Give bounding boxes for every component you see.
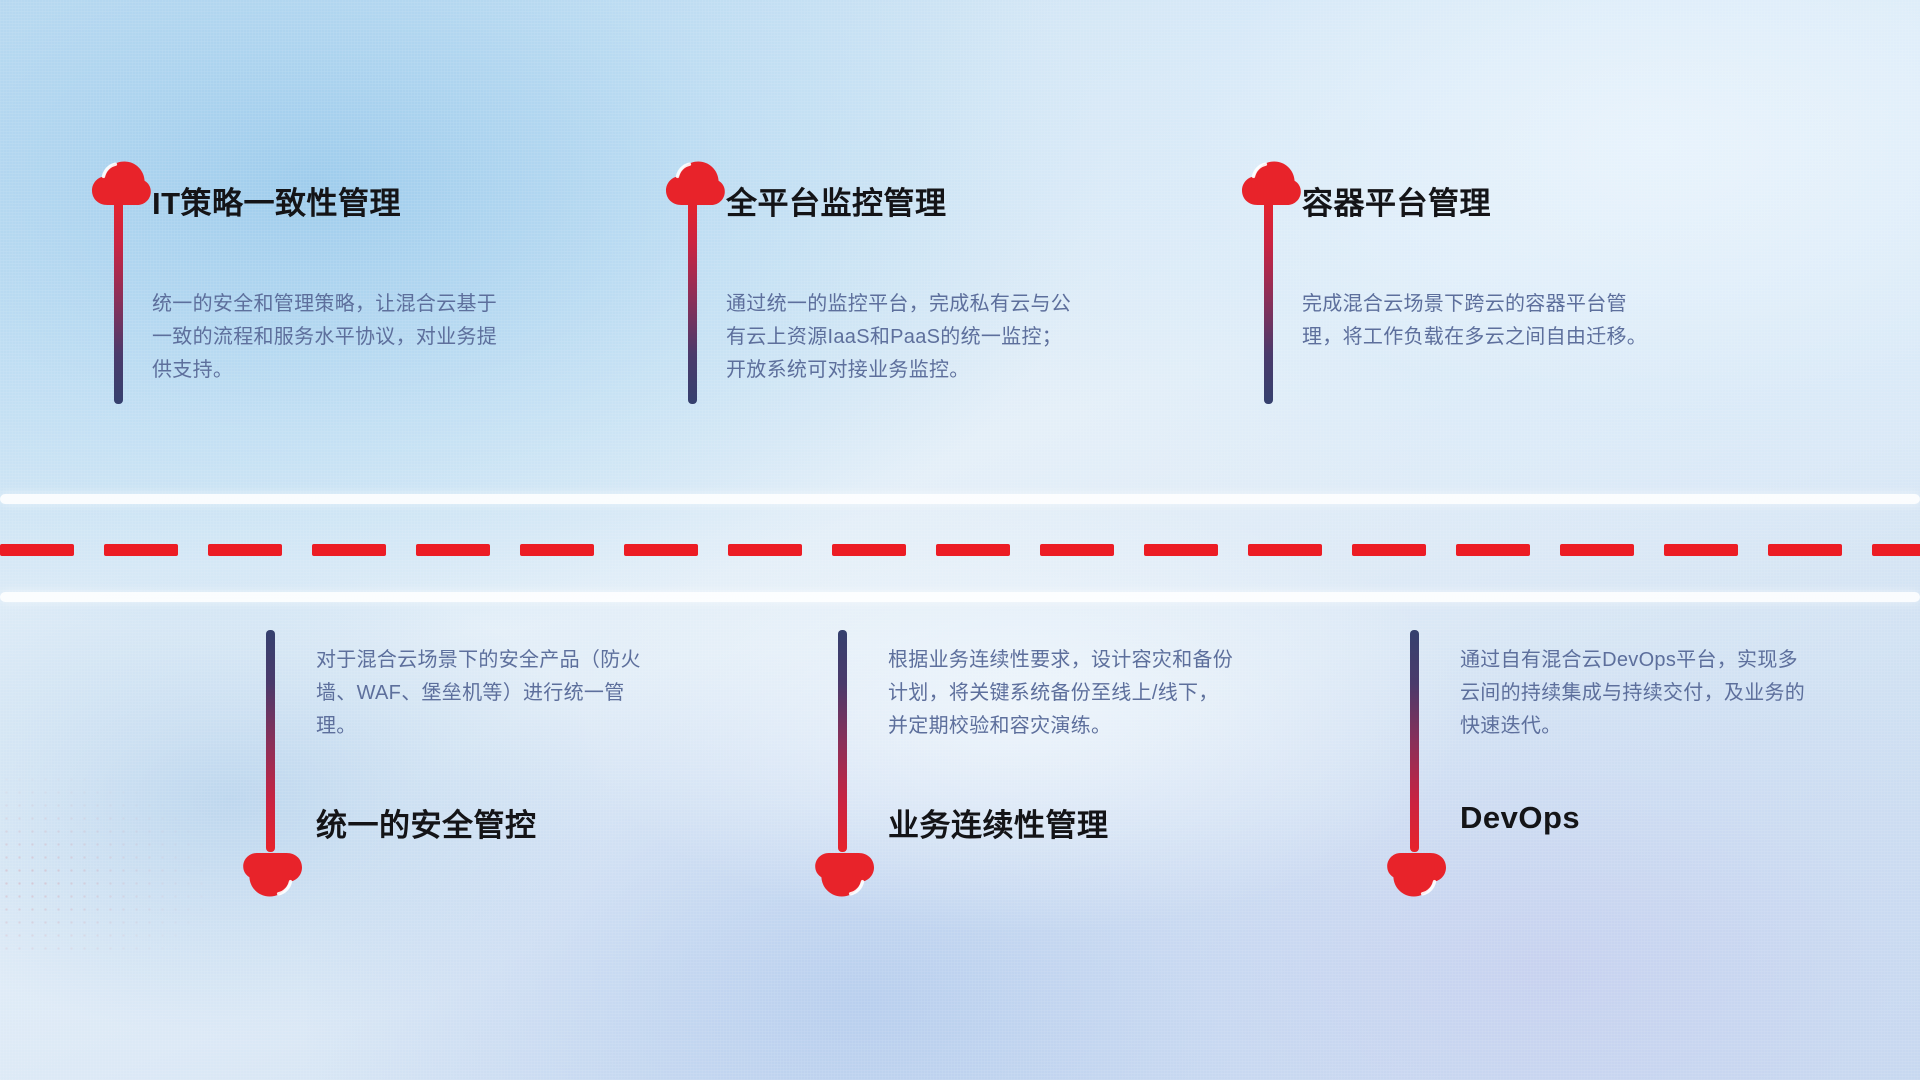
capability-title: 全平台监控管理: [726, 178, 947, 223]
road-dash: [728, 544, 802, 556]
road-edge-bottom: [0, 592, 1920, 602]
road-dash: [1040, 544, 1114, 556]
road-dash: [208, 544, 282, 556]
capability-description: 根据业务连续性要求，设计容灾和备份计划，将关键系统备份至线上/线下，并定期校验和…: [888, 644, 1236, 743]
capability-title: 业务连续性管理: [888, 800, 1109, 845]
road-dash: [1768, 544, 1842, 556]
road-dash: [624, 544, 698, 556]
road-dash: [1560, 544, 1634, 556]
road-dash: [936, 544, 1010, 556]
capability-title: DevOps: [1460, 800, 1580, 836]
infographic-canvas: IT策略一致性管理 统一的安全和管理策略，让混合云基于一致的流程和服务水平协议，…: [0, 0, 1920, 1080]
capability-description: 完成混合云场景下跨云的容器平台管理，将工作负载在多云之间自由迁移。: [1302, 288, 1650, 354]
road-dash: [312, 544, 386, 556]
capability-card-platform-monitoring[interactable]: 全平台监控管理 通过统一的监控平台，完成私有云与公有云上资源IaaS和PaaS的…: [670, 160, 1140, 480]
connector-line: [114, 198, 123, 404]
road-dash: [832, 544, 906, 556]
connector-line: [1264, 198, 1273, 404]
capability-title: 容器平台管理: [1302, 178, 1491, 223]
cloud-icon: [814, 852, 876, 898]
connector-line: [1410, 630, 1419, 852]
road-center-dashes: [0, 544, 1920, 556]
road-dash: [1664, 544, 1738, 556]
cloud-icon: [1386, 852, 1448, 898]
road-dash: [1144, 544, 1218, 556]
road-dash: [520, 544, 594, 556]
capability-description: 通过自有混合云DevOps平台，实现多云间的持续集成与持续交付，及业务的快速迭代…: [1460, 644, 1808, 743]
road-dash: [0, 544, 74, 556]
capability-card-container-platform[interactable]: 容器平台管理 完成混合云场景下跨云的容器平台管理，将工作负载在多云之间自由迁移。: [1246, 160, 1716, 480]
road-edge-top: [0, 494, 1920, 504]
road-dash: [1248, 544, 1322, 556]
road-dash: [1456, 544, 1530, 556]
capability-card-devops[interactable]: 通过自有混合云DevOps平台，实现多云间的持续集成与持续交付，及业务的快速迭代…: [1392, 630, 1862, 960]
capability-card-it-policy[interactable]: IT策略一致性管理 统一的安全和管理策略，让混合云基于一致的流程和服务水平协议，…: [96, 160, 566, 480]
capability-title: 统一的安全管控: [316, 800, 537, 845]
capability-description: 对于混合云场景下的安全产品（防火墙、WAF、堡垒机等）进行统一管理。: [316, 644, 664, 743]
capability-title: IT策略一致性管理: [152, 178, 401, 223]
decorative-dot-pattern: [0, 760, 230, 960]
road-dash: [416, 544, 490, 556]
capability-card-unified-security[interactable]: 对于混合云场景下的安全产品（防火墙、WAF、堡垒机等）进行统一管理。 统一的安全…: [248, 630, 718, 960]
capability-description: 通过统一的监控平台，完成私有云与公有云上资源IaaS和PaaS的统一监控；开放系…: [726, 288, 1074, 387]
connector-line: [688, 198, 697, 404]
road-dash: [1352, 544, 1426, 556]
connector-line: [838, 630, 847, 852]
capability-card-business-continuity[interactable]: 根据业务连续性要求，设计容灾和备份计划，将关键系统备份至线上/线下，并定期校验和…: [820, 630, 1290, 960]
road-dash: [1872, 544, 1920, 556]
cloud-icon: [242, 852, 304, 898]
capability-description: 统一的安全和管理策略，让混合云基于一致的流程和服务水平协议，对业务提供支持。: [152, 288, 500, 387]
road-dash: [104, 544, 178, 556]
connector-line: [266, 630, 275, 852]
